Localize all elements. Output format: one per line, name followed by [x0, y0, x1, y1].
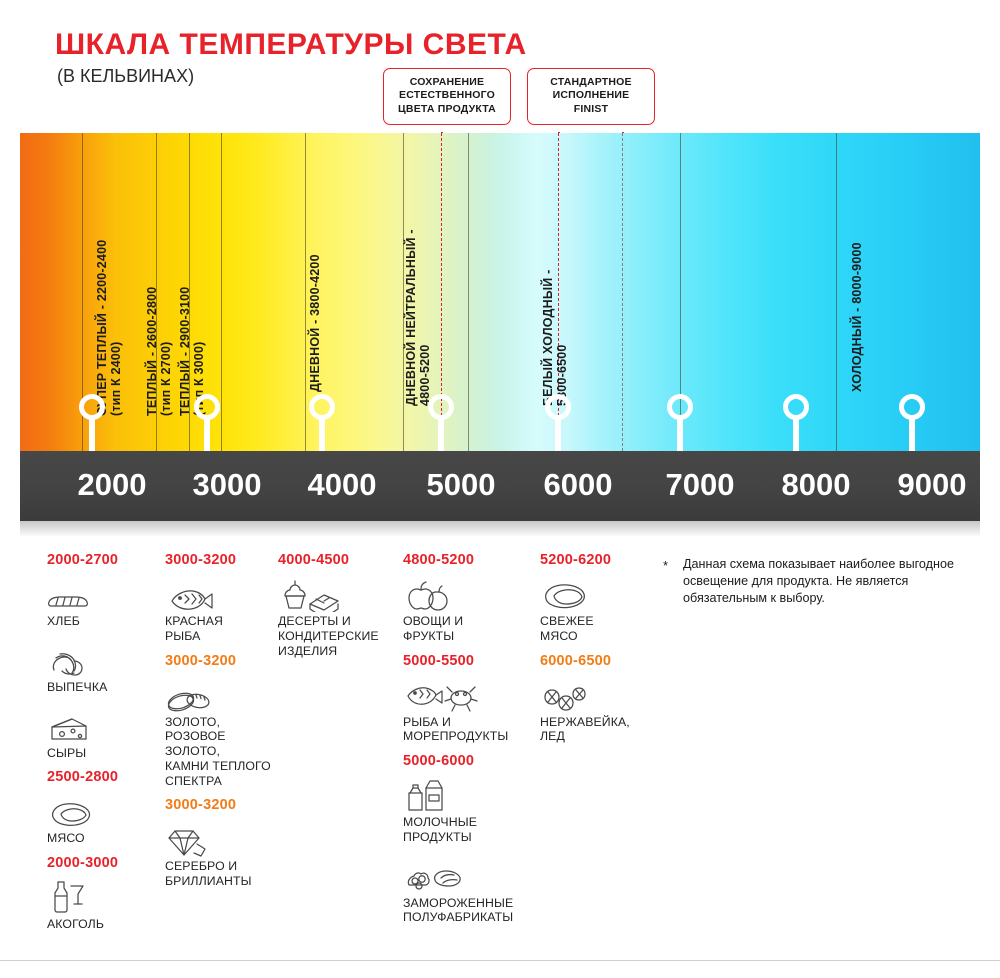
- legend-range-label: 4000-4500: [278, 552, 396, 568]
- zone-separator: [836, 133, 837, 451]
- rings-icon: [165, 673, 280, 713]
- diamond-icon: [165, 817, 280, 857]
- scale-tick-5000: 5000: [401, 467, 521, 503]
- legend-column-2: 3000-3200КРАСНАЯ РЫБА3000-3200ЗОЛОТО, РО…: [165, 552, 280, 898]
- pin-head-icon: [194, 394, 220, 420]
- zone-label-line1: ТЕПЛЫЙ - 2600-2800: [145, 287, 159, 416]
- legend-group: 6000-6500НЕРЖАВЕЙКА, ЛЕД: [540, 653, 650, 745]
- legend-item-label: ЗАМОРОЖЕННЫЕ ПОЛУФАБРИКАТЫ: [403, 896, 538, 926]
- pin-stem: [555, 419, 561, 451]
- legend-column-5: 5200-6200СВЕЖЕЕ МЯСО6000-6500НЕРЖАВЕЙКА,…: [540, 552, 650, 753]
- zone-label-line2: (тип К 2700): [159, 287, 173, 416]
- legend-range-label: 2000-2700: [47, 552, 152, 568]
- legend-item-label: СЕРЕБРО И БРИЛЛИАНТЫ: [165, 859, 280, 889]
- pin-head-icon: [783, 394, 809, 420]
- scale-pin-5000: [428, 394, 454, 451]
- zone-label-line2: 4800-5200: [418, 229, 432, 406]
- legend-item: ЗАМОРОЖЕННЫЕ ПОЛУФАБРИКАТЫ: [403, 854, 538, 926]
- bottom-divider: [0, 960, 1000, 961]
- scale-tick-9000: 9000: [872, 467, 992, 503]
- zone-label-super-warm: СУПЕР ТЕПЛЫЙ - 2200-2400 (тип К 2400): [95, 240, 123, 416]
- pin-stem: [204, 419, 210, 451]
- legend-column-3: 4000-4500ДЕСЕРТЫ И КОНДИТЕРСКИЕ ИЗДЕЛИЯ: [278, 552, 396, 667]
- legend-range-label: 3000-3200: [165, 797, 280, 813]
- legend-range-label: 5000-6000: [403, 753, 538, 769]
- zone-separator: [305, 133, 306, 451]
- zone-label-daylight-neutral: ДНЕВНОЙ НЕЙТРАЛЬНЫЙ - 4800-5200: [404, 229, 432, 406]
- pin-stem: [793, 419, 799, 451]
- pin-stem: [677, 419, 683, 451]
- footnote: * Данная схема показывает наиболее выгод…: [663, 556, 988, 607]
- legend-group: 5200-6200СВЕЖЕЕ МЯСО: [540, 552, 650, 644]
- zone-label-white-cold: БЕЛЫЙ ХОЛОДНЫЙ - 5800-6500: [541, 269, 569, 406]
- legend-range-label: 6000-6500: [540, 653, 650, 669]
- legend-group: 2000-3000АКОГОЛЬ: [47, 855, 152, 932]
- zone-label-warm-2700: ТЕПЛЫЙ - 2600-2800 (тип К 2700): [145, 287, 173, 416]
- scale-tick-7000: 7000: [640, 467, 760, 503]
- cupcake-cake-icon: [278, 572, 396, 612]
- callout-line: СТАНДАРТНОЕ: [536, 76, 646, 89]
- scale-tick-3000: 3000: [167, 467, 287, 503]
- pin-stem: [89, 419, 95, 451]
- pin-head-icon: [79, 394, 105, 420]
- scale-pin-9000: [899, 394, 925, 451]
- legend-item-label: СЫРЫ: [47, 746, 152, 761]
- legend-range-label: 2500-2800: [47, 769, 152, 785]
- legend-item-label: РЫБА И МОРЕПРОДУКТЫ: [403, 715, 538, 745]
- zone-label-line1: ДНЕВНОЙ - 3800-4200: [308, 254, 322, 392]
- pin-stem: [438, 419, 444, 451]
- legend-item: МЯСО: [47, 789, 152, 846]
- pin-head-icon: [545, 394, 571, 420]
- scale-tick-4000: 4000: [282, 467, 402, 503]
- legend-item-label: МЯСО: [47, 831, 152, 846]
- legend-column-1: 2000-2700ХЛЕБВЫПЕЧКАСЫРЫ2500-2800МЯСО200…: [47, 552, 152, 941]
- page-subtitle: (В КЕЛЬВИНАХ): [57, 66, 194, 87]
- color-temperature-bar: СУПЕР ТЕПЛЫЙ - 2200-2400 (тип К 2400) ТЕ…: [20, 133, 980, 451]
- scale-pin-6000: [545, 394, 571, 451]
- legend-item-label: АКОГОЛЬ: [47, 917, 152, 932]
- legend-range-label: 2000-3000: [47, 855, 152, 871]
- cheese-icon: [47, 704, 152, 744]
- legend-item: НЕРЖАВЕЙКА, ЛЕД: [540, 673, 650, 745]
- footnote-star: *: [663, 557, 668, 575]
- callout-line: ЕСТЕСТВЕННОГО: [392, 89, 502, 102]
- legend-item-label: НЕРЖАВЕЙКА, ЛЕД: [540, 715, 650, 745]
- legend-group: 5000-6000МОЛОЧНЫЕ ПРОДУКТЫЗАМОРОЖЕННЫЕ П…: [403, 753, 538, 925]
- legend-item: ХЛЕБ: [47, 572, 152, 629]
- fresh-meat-icon: [540, 572, 650, 612]
- legend-group: 4000-4500ДЕСЕРТЫ И КОНДИТЕРСКИЕ ИЗДЕЛИЯ: [278, 552, 396, 658]
- pin-stem: [319, 419, 325, 451]
- page-title: ШКАЛА ТЕМПЕРАТУРЫ СВЕТА: [55, 28, 527, 62]
- milk-icon: [403, 773, 538, 813]
- legend-item: РЫБА И МОРЕПРОДУКТЫ: [403, 673, 538, 745]
- callout-line: СОХРАНЕНИЕ: [392, 76, 502, 89]
- fruits-icon: [403, 572, 538, 612]
- zone-label-cold: ХОЛОДНЫЙ - 8000-9000: [850, 242, 864, 392]
- legend-group: 3000-3200КРАСНАЯ РЫБА: [165, 552, 280, 644]
- marker-line-finist-b: [622, 133, 623, 451]
- legend-item-label: ДЕСЕРТЫ И КОНДИТЕРСКИЕ ИЗДЕЛИЯ: [278, 614, 396, 658]
- legend-group: 2500-2800МЯСО: [47, 769, 152, 846]
- legend-range-label: 3000-3200: [165, 653, 280, 669]
- scale-tick-2000: 2000: [52, 467, 172, 503]
- infographic-root: ШКАЛА ТЕМПЕРАТУРЫ СВЕТА (В КЕЛЬВИНАХ) СО…: [0, 0, 1000, 978]
- zone-label-line1: ХОЛОДНЫЙ - 8000-9000: [850, 242, 864, 392]
- legend-item-label: ВЫПЕЧКА: [47, 680, 152, 695]
- legend-item-label: ЗОЛОТО, РОЗОВОЕ ЗОЛОТО, КАМНИ ТЕПЛОГО СП…: [165, 715, 280, 789]
- legend-item-label: СВЕЖЕЕ МЯСО: [540, 614, 650, 644]
- legend-item-label: МОЛОЧНЫЕ ПРОДУКТЫ: [403, 815, 538, 845]
- callout-natural-color: СОХРАНЕНИЕ ЕСТЕСТВЕННОГО ЦВЕТА ПРОДУКТА: [383, 68, 511, 125]
- scale-pin-2000: [79, 394, 105, 451]
- scale-tick-8000: 8000: [756, 467, 876, 503]
- legend-range-label: 5200-6200: [540, 552, 650, 568]
- bread-icon: [47, 572, 152, 612]
- zone-label-line2: 5800-6500: [555, 269, 569, 406]
- legend-group: 5000-5500РЫБА И МОРЕПРОДУКТЫ: [403, 653, 538, 745]
- scale-shadow: [20, 521, 980, 537]
- scale-tick-6000: 6000: [518, 467, 638, 503]
- callout-line: ЦВЕТА ПРОДУКТА: [392, 103, 502, 116]
- zone-label-line1: СУПЕР ТЕПЛЫЙ - 2200-2400: [95, 240, 109, 416]
- fish-crab-icon: [403, 673, 538, 713]
- croissant-icon: [47, 638, 152, 678]
- callout-line: ИСПОЛНЕНИЕ: [536, 89, 646, 102]
- kelvin-scale-strip: 2000 3000 4000 5000 6000 7000 8000 9000: [20, 451, 980, 521]
- pin-head-icon: [899, 394, 925, 420]
- fish-icon: [165, 572, 280, 612]
- zone-separator: [221, 133, 222, 451]
- legend-item: СЫРЫ: [47, 704, 152, 761]
- zone-label-line1: БЕЛЫЙ ХОЛОДНЫЙ -: [541, 269, 555, 406]
- legend-item: АКОГОЛЬ: [47, 875, 152, 932]
- scale-pin-4000: [309, 394, 335, 451]
- zone-separator: [468, 133, 469, 451]
- callout-finist-standard: СТАНДАРТНОЕ ИСПОЛНЕНИЕ FINIST: [527, 68, 655, 125]
- legend-item-label: ОВОЩИ И ФРУКТЫ: [403, 614, 538, 644]
- pin-head-icon: [428, 394, 454, 420]
- scale-pin-7000: [667, 394, 693, 451]
- legend-item: КРАСНАЯ РЫБА: [165, 572, 280, 644]
- zone-label-daylight: ДНЕВНОЙ - 3800-4200: [308, 254, 322, 392]
- ice-cubes-icon: [540, 673, 650, 713]
- bottle-glass-icon: [47, 875, 152, 915]
- legend-item: ДЕСЕРТЫ И КОНДИТЕРСКИЕ ИЗДЕЛИЯ: [278, 572, 396, 658]
- pin-stem: [909, 419, 915, 451]
- legend-item-label: ХЛЕБ: [47, 614, 152, 629]
- legend-item: СЕРЕБРО И БРИЛЛИАНТЫ: [165, 817, 280, 889]
- legend-column-4: 4800-5200ОВОЩИ И ФРУКТЫ5000-5500РЫБА И М…: [403, 552, 538, 934]
- steak-icon: [47, 789, 152, 829]
- legend-group: 3000-3200СЕРЕБРО И БРИЛЛИАНТЫ: [165, 797, 280, 889]
- legend-item: ЗОЛОТО, РОЗОВОЕ ЗОЛОТО, КАМНИ ТЕПЛОГО СП…: [165, 673, 280, 789]
- pin-head-icon: [309, 394, 335, 420]
- legend-item: МОЛОЧНЫЕ ПРОДУКТЫ: [403, 773, 538, 845]
- legend-range-label: 3000-3200: [165, 552, 280, 568]
- legend-group: 3000-3200ЗОЛОТО, РОЗОВОЕ ЗОЛОТО, КАМНИ Т…: [165, 653, 280, 789]
- zone-label-line2: (тип К 2400): [109, 240, 123, 416]
- zone-label-line1: ДНЕВНОЙ НЕЙТРАЛЬНЫЙ -: [404, 229, 418, 406]
- frozen-food-icon: [403, 854, 538, 894]
- callout-line: FINIST: [536, 103, 646, 116]
- zone-label-line1: ТЕПЛЫЙ - 2900-3100: [178, 287, 192, 416]
- footnote-text: Данная схема показывает наиболее выгодно…: [683, 556, 988, 607]
- legend-group: 2000-2700ХЛЕБВЫПЕЧКАСЫРЫ: [47, 552, 152, 760]
- scale-pin-8000: [783, 394, 809, 451]
- legend-range-label: 5000-5500: [403, 653, 538, 669]
- legend-item: ОВОЩИ И ФРУКТЫ: [403, 572, 538, 644]
- legend-item: ВЫПЕЧКА: [47, 638, 152, 695]
- legend-group: 4800-5200ОВОЩИ И ФРУКТЫ: [403, 552, 538, 644]
- legend-item-label: КРАСНАЯ РЫБА: [165, 614, 280, 644]
- legend-item: СВЕЖЕЕ МЯСО: [540, 572, 650, 644]
- pin-head-icon: [667, 394, 693, 420]
- legend-range-label: 4800-5200: [403, 552, 538, 568]
- scale-pin-3000: [194, 394, 220, 451]
